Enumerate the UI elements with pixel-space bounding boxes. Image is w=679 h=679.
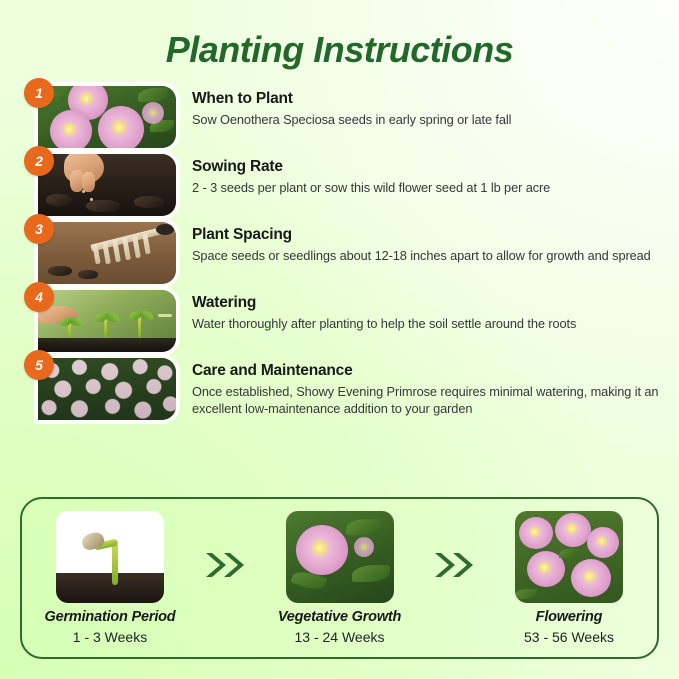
step-4-number-badge: 4 bbox=[24, 282, 54, 312]
step-item-1: 1 When to Plant Sow Oenothera Speciosa s… bbox=[0, 86, 679, 148]
step-4-thumbnail-wrap: 4 bbox=[38, 290, 176, 352]
step-4-body: Water thoroughly after planting to help … bbox=[192, 315, 661, 333]
timeline-stage-germination-duration: 1 - 3 Weeks bbox=[44, 629, 176, 645]
step-1-text: When to Plant Sow Oenothera Speciosa see… bbox=[192, 86, 679, 129]
step-item-4: 4 Watering bbox=[0, 290, 679, 352]
timeline-stage-vegetative-name: Vegetative Growth bbox=[274, 609, 406, 626]
blooming-primrose-cluster-photo bbox=[515, 511, 623, 603]
timeline-stage-flowering-duration: 53 - 56 Weeks bbox=[503, 629, 635, 645]
sprouting-seed-photo bbox=[56, 511, 164, 603]
hand-sowing-seeds-in-soil-photo bbox=[38, 154, 176, 216]
step-2-body: 2 - 3 seeds per plant or sow this wild f… bbox=[192, 179, 661, 197]
watering-seedlings-photo bbox=[38, 290, 176, 352]
step-3-text: Plant Spacing Space seeds or seedlings a… bbox=[192, 222, 679, 265]
primrose-flower-with-foliage-photo bbox=[286, 511, 394, 603]
timeline-stage-flowering-name: Flowering bbox=[503, 609, 635, 626]
double-chevron-right-icon-2 bbox=[428, 550, 480, 580]
step-1-title: When to Plant bbox=[192, 90, 661, 108]
step-1-thumbnail-wrap: 1 bbox=[38, 86, 176, 148]
pink-primrose-flowers-photo bbox=[38, 86, 176, 148]
step-3-body: Space seeds or seedlings about 12-18 inc… bbox=[192, 247, 661, 265]
timeline-stage-flowering: Flowering 53 - 56 Weeks bbox=[503, 511, 635, 644]
timeline-stage-vegetative: Vegetative Growth 13 - 24 Weeks bbox=[274, 511, 406, 644]
step-2-title: Sowing Rate bbox=[192, 158, 661, 176]
field-of-pink-blossoms-photo bbox=[38, 358, 176, 420]
timeline-stage-germination-name: Germination Period bbox=[44, 609, 176, 626]
timeline-stage-germination: Germination Period 1 - 3 Weeks bbox=[44, 511, 176, 644]
step-5-thumbnail-wrap: 5 bbox=[38, 358, 176, 420]
planting-instructions-infographic: Planting Instructions 1 When to Plant bbox=[0, 0, 679, 679]
step-5-number-badge: 5 bbox=[24, 350, 54, 380]
step-1-body: Sow Oenothera Speciosa seeds in early sp… bbox=[192, 111, 661, 129]
step-3-thumbnail-wrap: 3 bbox=[38, 222, 176, 284]
step-item-5: 5 Care and Maintenance Once established,… bbox=[0, 358, 679, 420]
rake-on-soil-photo bbox=[38, 222, 176, 284]
timeline-stage-vegetative-duration: 13 - 24 Weeks bbox=[274, 629, 406, 645]
step-2-text: Sowing Rate 2 - 3 seeds per plant or sow… bbox=[192, 154, 679, 197]
step-3-title: Plant Spacing bbox=[192, 226, 661, 244]
step-3-number-badge: 3 bbox=[24, 214, 54, 244]
step-5-title: Care and Maintenance bbox=[192, 362, 661, 380]
step-4-text: Watering Water thoroughly after planting… bbox=[192, 290, 679, 333]
step-1-number-badge: 1 bbox=[24, 78, 54, 108]
step-4-title: Watering bbox=[192, 294, 661, 312]
step-5-body: Once established, Showy Evening Primrose… bbox=[192, 383, 661, 418]
page-title: Planting Instructions bbox=[0, 0, 679, 70]
step-2-number-badge: 2 bbox=[24, 146, 54, 176]
step-item-3: 3 Plant Spacing Space seeds or bbox=[0, 222, 679, 284]
double-chevron-right-icon bbox=[199, 550, 251, 580]
growth-timeline-panel: Germination Period 1 - 3 Weeks Vegetativ… bbox=[20, 497, 659, 659]
step-2-thumbnail-wrap: 2 bbox=[38, 154, 176, 216]
step-item-2: 2 Sowing Rate 2 - 3 seeds per plant or s… bbox=[0, 154, 679, 216]
steps-list: 1 When to Plant Sow Oenothera Speciosa s… bbox=[0, 86, 679, 420]
step-5-text: Care and Maintenance Once established, S… bbox=[192, 358, 679, 418]
